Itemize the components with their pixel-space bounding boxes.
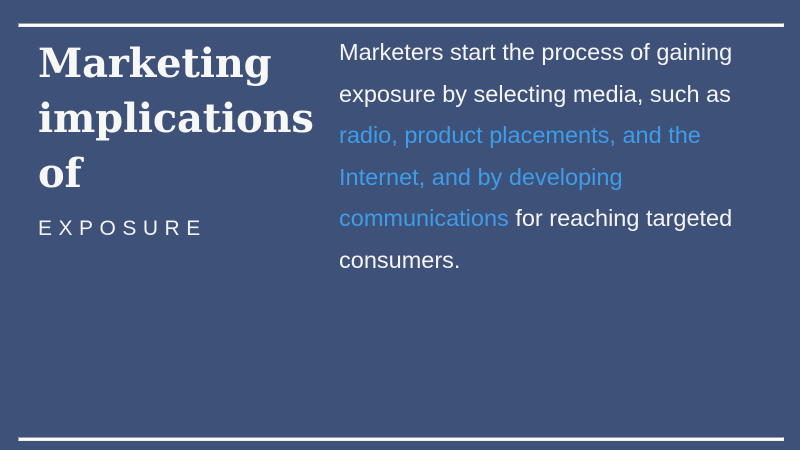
page-title: Marketing implications of (38, 36, 310, 201)
body-block: Marketers start the process of gaining e… (339, 32, 759, 281)
title-block: Marketing implications of EXPOSURE (38, 36, 310, 243)
body-paragraph: Marketers start the process of gaining e… (339, 32, 759, 281)
body-text-lead: Marketers start the process of gaining e… (339, 39, 732, 107)
presentation-slide: Marketing implications of EXPOSURE Marke… (0, 0, 800, 450)
slide-content: Marketing implications of EXPOSURE Marke… (0, 0, 800, 450)
bottom-divider-rule (18, 437, 784, 441)
page-subtitle: EXPOSURE (38, 215, 310, 243)
